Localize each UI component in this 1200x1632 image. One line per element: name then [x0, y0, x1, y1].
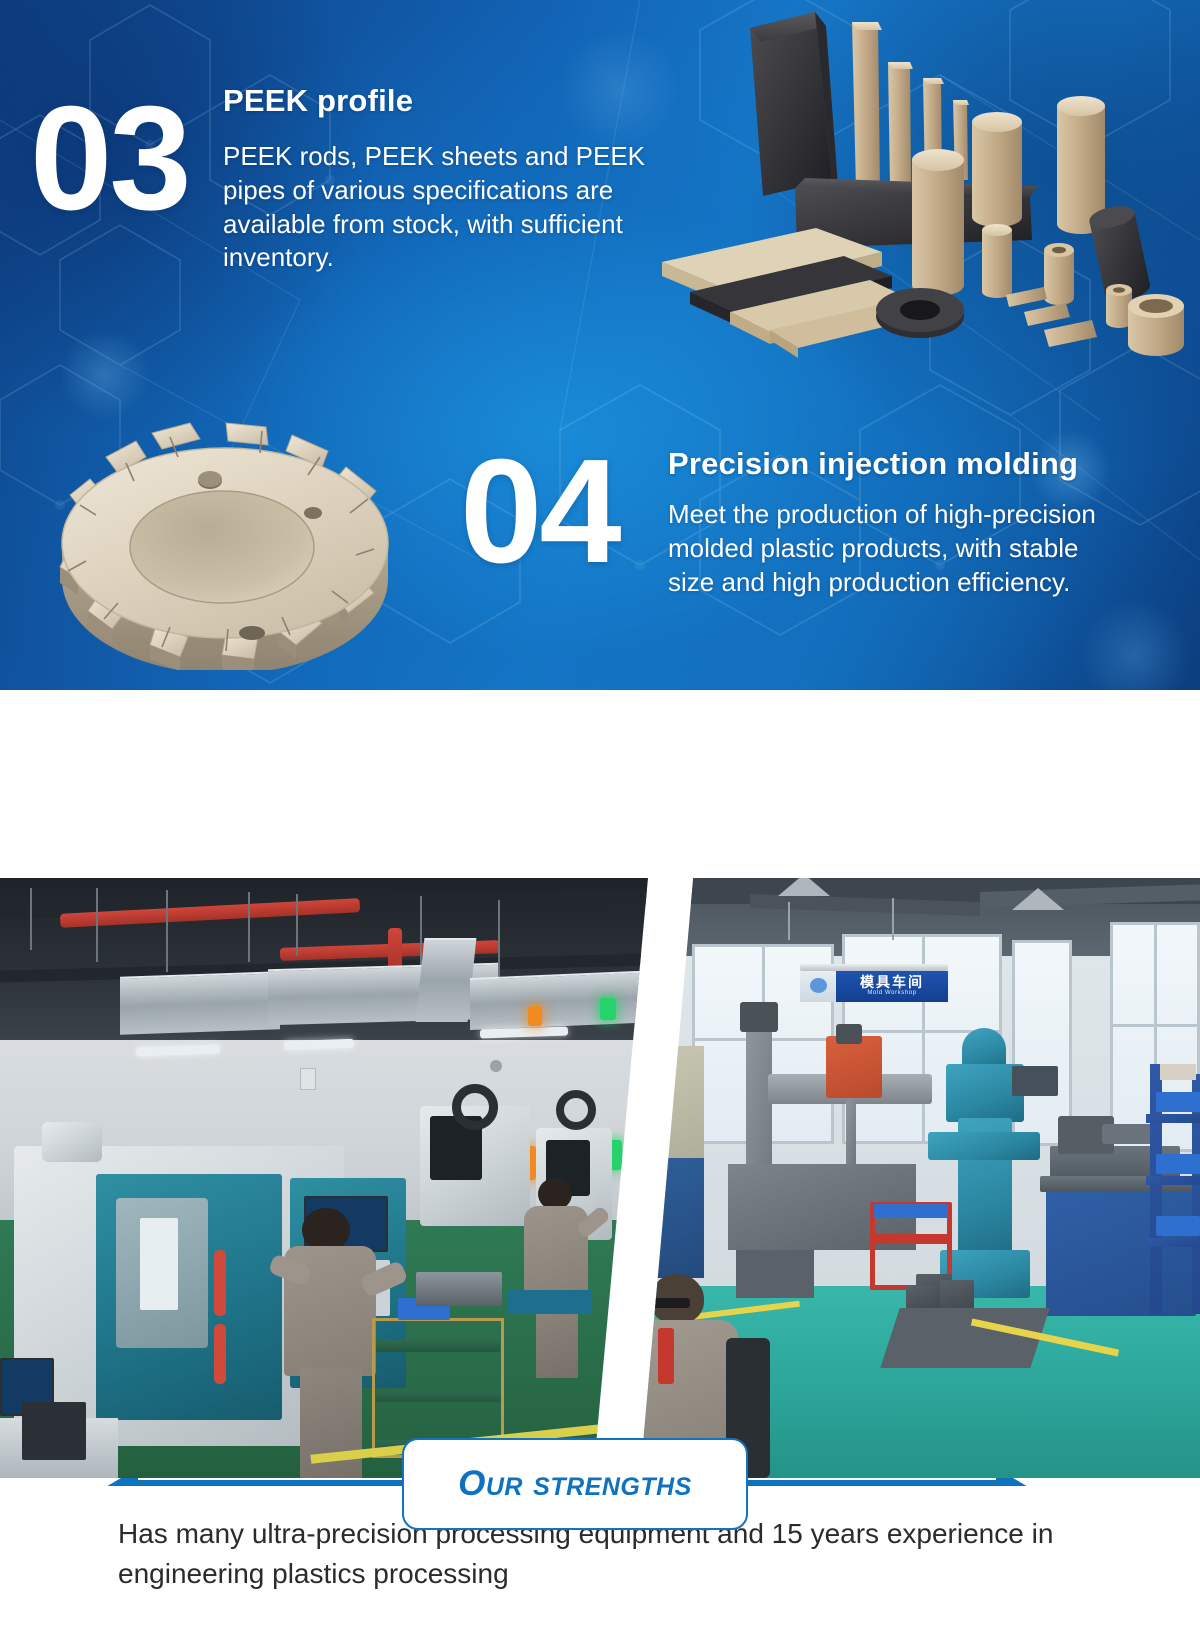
- cnc-machining-workshop-photo: [0, 878, 648, 1478]
- feature-description-04: Meet the production of high-precision mo…: [668, 498, 1108, 599]
- feature-item-04: 04 Precision injection molding Meet the …: [450, 420, 1200, 670]
- feature-number-03: 03: [30, 85, 189, 233]
- pendant-lamp-icon: [1012, 888, 1064, 910]
- sign-text-cn: 模具车间: [860, 975, 924, 989]
- mold-workshop-sign: 模具车间 Mold Workshop: [800, 964, 948, 1002]
- product-feature-page: 03 PEEK profile PEEK rods, PEEK sheets a…: [0, 0, 1200, 1632]
- strengths-label: Our strengths: [458, 1464, 692, 1504]
- feature-title-03: PEEK profile: [223, 83, 413, 119]
- peek-profile-product-image: [620, 0, 1200, 360]
- strengths-banner: Our strengths: [0, 690, 1200, 875]
- pendant-lamp-icon: [778, 878, 830, 896]
- worker-figure: [520, 1178, 602, 1378]
- hero-section: 03 PEEK profile PEEK rods, PEEK sheets a…: [0, 0, 1200, 690]
- factory-photo-group: 模具车间 Mold Workshop: [0, 878, 1200, 1478]
- feature-title-04: Precision injection molding: [668, 446, 1078, 482]
- sign-text-en: Mold Workshop: [867, 989, 916, 999]
- injection-molding-product-image: [30, 395, 420, 670]
- feature-number-04: 04: [460, 438, 619, 586]
- strengths-label-box: Our strengths: [402, 1438, 748, 1530]
- feature-item-03: 03 PEEK profile PEEK rods, PEEK sheets a…: [0, 0, 660, 340]
- feature-description-03: PEEK rods, PEEK sheets and PEEK pipes of…: [223, 140, 653, 275]
